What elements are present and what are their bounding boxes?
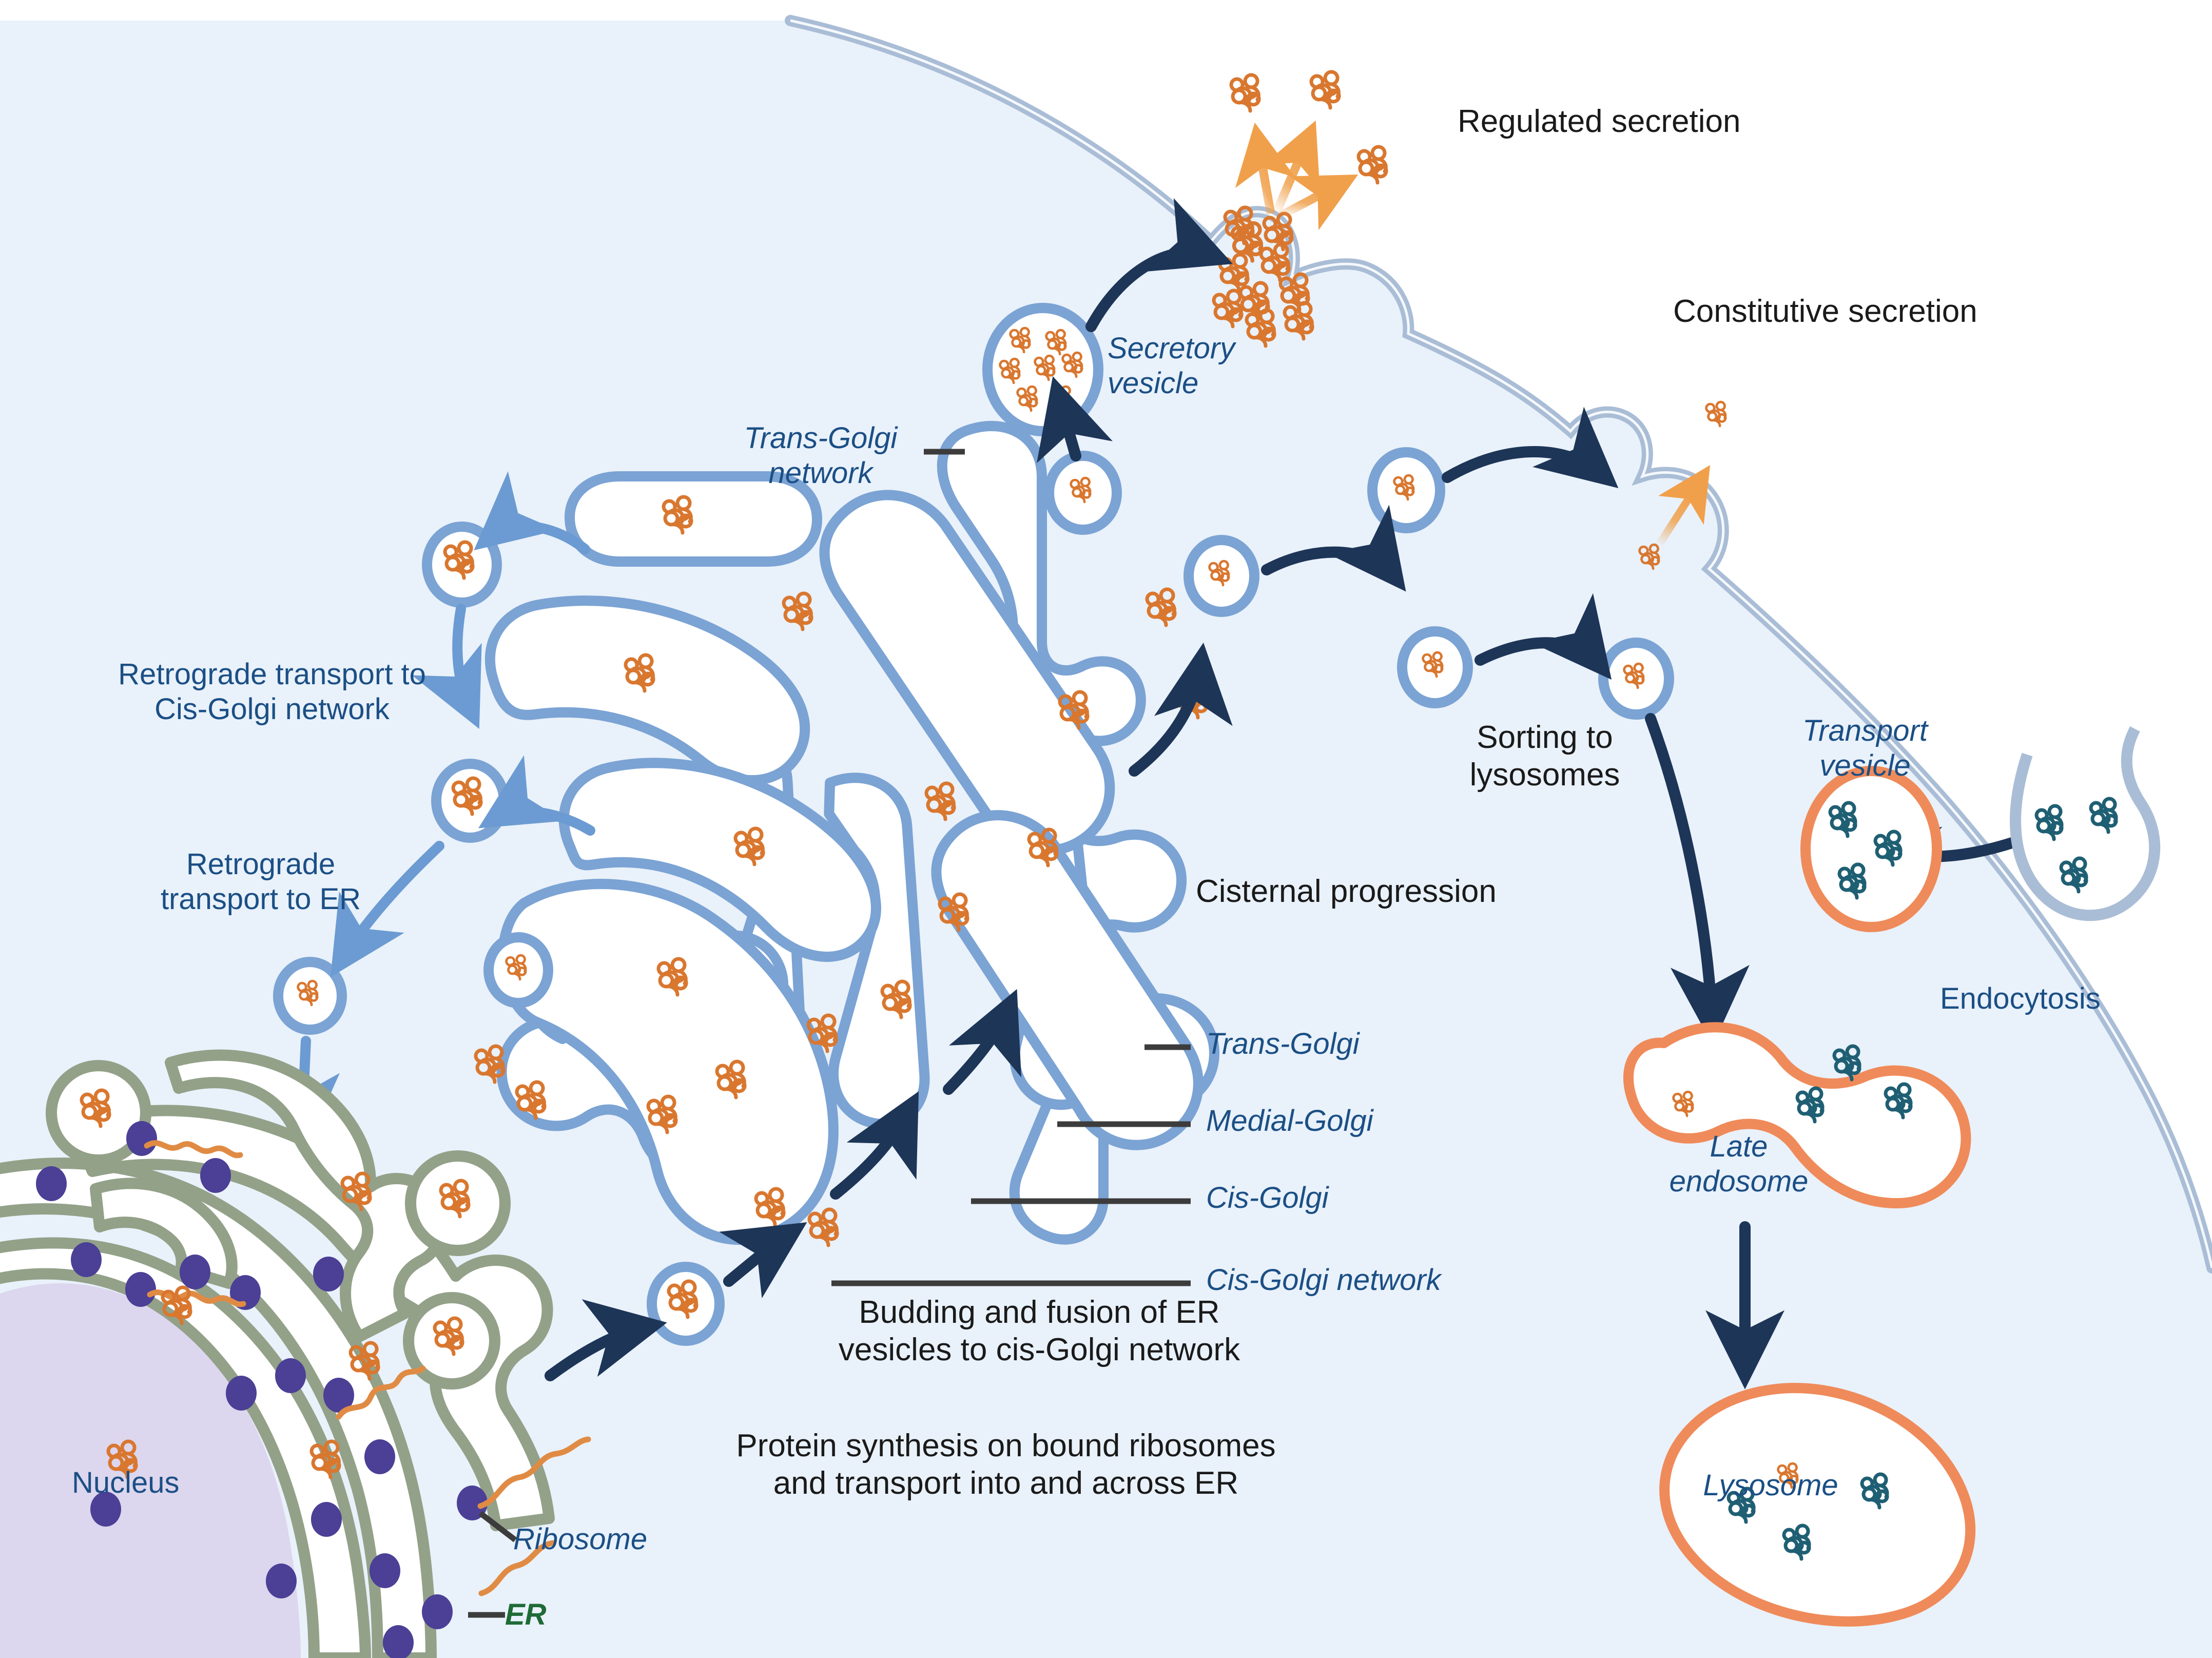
label-constitutive-secretion: Constitutive secretion [1673,293,1977,330]
label-transport-vesicle: Transport vesicle [1762,714,1968,784]
label-cis-golgi-network: Cis-Golgi network [1206,1263,1441,1298]
label-lysosome: Lysosome [1663,1468,1878,1503]
label-ribosome: Ribosome [513,1522,647,1557]
label-protein-synthesis: Protein synthesis on bound ribosomes and… [683,1427,1329,1502]
secreted-proteins-regulated [1231,72,1386,183]
endocytosis-pit [2015,729,2155,915]
label-nucleus: Nucleus [72,1466,180,1500]
diagram-canvas: Regulated secretion Constitutive secreti… [0,0,2212,1658]
label-trans-golgi: Trans-Golgi [1206,1027,1360,1062]
label-cisternal-progression: Cisternal progression [1196,873,1497,910]
diagram-svg [0,0,2212,1658]
label-secretory-vesicle: Secretory vesicle [1108,331,1235,401]
label-budding-and-fusion: Budding and fusion of ER vesicles to cis… [780,1294,1298,1368]
label-er: ER [505,1597,547,1632]
label-trans-golgi-network: Trans-Golgi network [721,421,921,491]
label-sorting-to-lysosomes: Sorting to lysosomes [1442,719,1647,794]
label-late-endosome: Late endosome [1636,1129,1841,1200]
label-medial-golgi: Medial-Golgi [1206,1104,1373,1139]
regulated-secretion-arrows [1257,134,1345,216]
label-retrograde-to-cis-golgi: Retrograde transport to Cis-Golgi networ… [103,657,441,727]
label-cis-golgi: Cis-Golgi [1206,1181,1329,1216]
label-regulated-secretion: Regulated secretion [1458,103,1740,140]
label-retrograde-to-er: Retrograde transport to ER [127,847,394,917]
label-endocytosis: Endocytosis [1940,981,2101,1016]
transport-vesicle [1806,771,1937,927]
